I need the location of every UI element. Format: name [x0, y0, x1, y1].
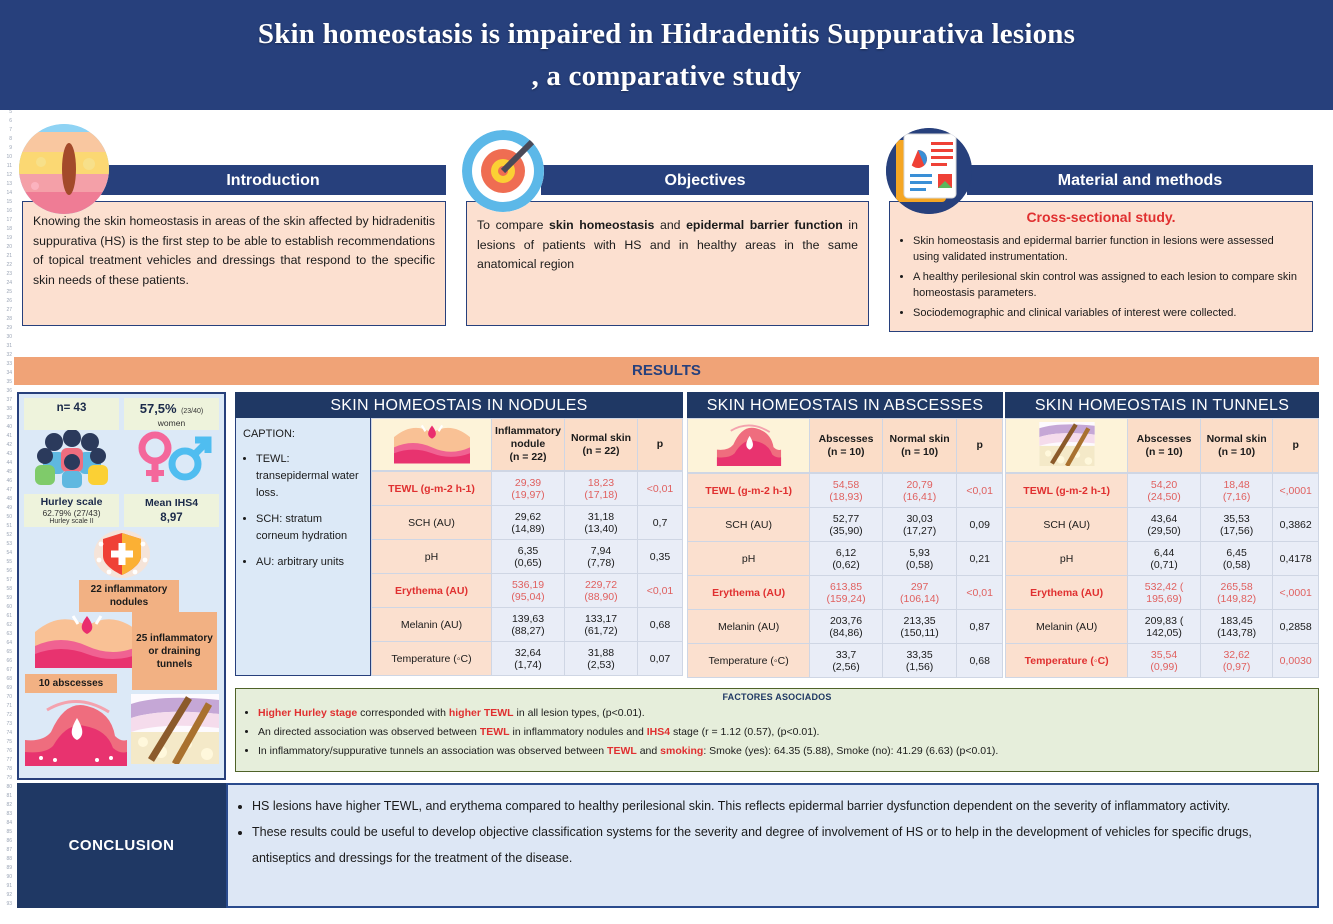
objectives-body: To compare skin homeostasis and epiderma… — [466, 201, 869, 326]
table-row: Erythema (AU)532,42 (195,69)265,58(149,8… — [1006, 576, 1319, 610]
ruler-tick: 53 — [0, 540, 14, 549]
associated-factors-list: Higher Hurley stage corresponded with hi… — [258, 704, 1310, 761]
tag-inflammatory-nodules: 22 inflammatory nodules — [79, 580, 179, 612]
caption-item: SCH: stratum corneum hydration — [256, 511, 363, 545]
table-row: Erythema (AU)613,85(159,24)297(106,14)<0… — [688, 576, 1003, 610]
col-header-lesion-l2: (n = 10) — [811, 446, 881, 459]
associated-factors-title: FACTORES ASOCIADOS — [244, 692, 1310, 702]
ruler-tick: 51 — [0, 522, 14, 531]
cell-p-value: 0,7 — [638, 506, 683, 540]
table-row-header: Abscesses (n = 10) Normal skin (n = 10) … — [1006, 419, 1319, 473]
ruler-tick: 72 — [0, 711, 14, 720]
conclusion-body: HS lesions have higher TEWL, and erythem… — [226, 783, 1319, 908]
cell-p-value: 0,07 — [638, 642, 683, 676]
af-b2-t3: stage (r = 1.12 (0.57), (p<0.01). — [670, 726, 819, 738]
table-row: Melanin (AU)203,76(84,86)213,35(150,11)0… — [688, 610, 1003, 644]
tag-tunnels: 25 inflammatory or draining tunnels — [132, 612, 217, 690]
cell-lesion-value: 29,39(19,97) — [492, 472, 565, 506]
af-b2-t2: in inflammatory nodules and — [510, 726, 647, 738]
cell-normal-value: 31,18(13,40) — [565, 506, 638, 540]
skin-cross-section-icon — [19, 124, 109, 214]
page-title-line1: Skin homeostasis is impaired in Hidraden… — [258, 13, 1075, 55]
abscess-illustration — [25, 696, 127, 771]
cell-p-value: 0,2858 — [1273, 610, 1319, 644]
table-row: pH6,35(0,65)7,94(7,78)0,35 — [372, 540, 683, 574]
introduction-body: Knowing the skin homeostasis in areas of… — [22, 201, 446, 326]
ruler-tick: 79 — [0, 774, 14, 783]
cell-p-value: <0,01 — [957, 576, 1003, 610]
row-label: SCH (AU) — [688, 508, 810, 542]
left-ruler: 5678910111213141516171819202122232425262… — [0, 108, 14, 924]
cell-lesion-value: 52,77(35,90) — [810, 508, 883, 542]
sidebar-stat-row-bottom: Hurley scale 62.79% (27/43) Hurley scale… — [19, 493, 224, 527]
row-label: Temperature (◦C) — [372, 642, 492, 676]
cell-normal-value: 133,17(61,72) — [565, 608, 638, 642]
table-abscesses-title: SKIN HOMEOSTAIS IN ABSCESSES — [687, 392, 1003, 418]
table-abscesses-body: TEWL (g-m-2 h-1)54,58(18,93)20,79(16,41)… — [687, 473, 1003, 678]
col-header-normal-l2: (n = 10) — [1202, 446, 1272, 459]
cell-normal-value: 32,62(0,97) — [1200, 644, 1273, 678]
row-label: TEWL (g-m-2 h-1) — [372, 472, 492, 506]
ruler-tick: 73 — [0, 720, 14, 729]
cell-normal-value: 33,35(1,56) — [882, 644, 957, 678]
table-nodules: SKIN HOMEOSTAIS IN NODULES CAPTION: TEWL… — [235, 392, 683, 676]
conclusion-item: These results could be useful to develop… — [252, 819, 1303, 871]
tunnel-header-icon-cell — [1006, 419, 1128, 473]
ruler-tick: 20 — [0, 243, 14, 252]
introduction-header: Introduction — [100, 165, 446, 195]
ruler-tick: 84 — [0, 819, 14, 828]
cell-p-value: <,0001 — [1273, 474, 1319, 508]
ruler-tick: 85 — [0, 828, 14, 837]
cell-p-value: <,0001 — [1273, 576, 1319, 610]
row-label: Melanin (AU) — [372, 608, 492, 642]
cell-lesion-value: 613,85(159,24) — [810, 576, 883, 610]
nodule-header-icon-cell — [372, 419, 492, 471]
ruler-tick: 59 — [0, 594, 14, 603]
objectives-header: Objectives — [541, 165, 869, 195]
cell-normal-value: 213,35(150,11) — [882, 610, 957, 644]
ruler-tick: 49 — [0, 504, 14, 513]
objectives-bold-2: epidermal barrier function — [686, 218, 843, 232]
table-row: TEWL (g-m-2 h-1)54,58(18,93)20,79(16,41)… — [688, 474, 1003, 508]
sidebar-stat-row-top: n= 43 57,5% (23/40) women — [19, 394, 224, 430]
ruler-tick: 29 — [0, 324, 14, 333]
cell-p-value: 0,0030 — [1273, 644, 1319, 678]
target-dart-icon — [462, 130, 544, 212]
col-header-normal: Normal skin (n = 22) — [565, 419, 638, 471]
cell-lesion-value: 203,76(84,86) — [810, 610, 883, 644]
medical-shield-icon — [19, 528, 224, 585]
table-row: Melanin (AU)139,63(88,27)133,17(61,72)0,… — [372, 608, 683, 642]
inflammatory-nodule-illustration — [35, 612, 139, 673]
ruler-tick: 38 — [0, 405, 14, 414]
col-header-p: p — [1273, 419, 1319, 473]
methods-bullet: Sociodemographic and clinical variables … — [913, 305, 1302, 321]
cell-p-value: <0,01 — [638, 574, 683, 608]
col-header-p: p — [957, 419, 1003, 473]
ruler-tick: 13 — [0, 180, 14, 189]
caption-item: TEWL: transepidermal water loss. — [256, 451, 363, 502]
bottom-strip — [0, 908, 1333, 924]
ruler-tick: 44 — [0, 459, 14, 468]
col-header-lesion-l3: (n = 22) — [493, 451, 563, 464]
ruler-tick: 92 — [0, 891, 14, 900]
cell-p-value: 0,68 — [957, 644, 1003, 678]
cell-p-value: <0,01 — [638, 472, 683, 506]
methods-header: Material and methods — [967, 165, 1313, 195]
ruler-tick: 18 — [0, 225, 14, 234]
ruler-tick: 78 — [0, 765, 14, 774]
cell-normal-value: 183,45(143,78) — [1200, 610, 1273, 644]
associated-factors-item: An directed association was observed bet… — [258, 723, 1310, 742]
col-header-normal-l1: Normal skin — [884, 433, 956, 446]
cell-normal-value: 35,53(17,56) — [1200, 508, 1273, 542]
row-label: Melanin (AU) — [688, 610, 810, 644]
cell-normal-value: 229,72(88,90) — [565, 574, 638, 608]
stat-women-label: women — [125, 418, 218, 428]
row-label: Erythema (AU) — [688, 576, 810, 610]
af-b2-red1: TEWL — [480, 726, 510, 738]
ruler-tick: 37 — [0, 396, 14, 405]
table-abscesses-grid: Abscesses (n = 10) Normal skin (n = 10) … — [687, 418, 1003, 473]
table-nodules-title: SKIN HOMEOSTAIS IN NODULES — [235, 392, 683, 418]
table-row: Temperature (◦C)33,7(2,56)33,35(1,56)0,6… — [688, 644, 1003, 678]
cell-lesion-value: 43,64(29,50) — [1128, 508, 1201, 542]
col-header-normal-l1: Normal skin — [1202, 433, 1272, 446]
ruler-tick: 76 — [0, 747, 14, 756]
ruler-tick: 12 — [0, 171, 14, 180]
methods-subtitle: Cross-sectional study. — [900, 208, 1302, 228]
stat-hurley-title: Hurley scale — [25, 496, 118, 508]
ruler-tick: 58 — [0, 585, 14, 594]
cell-p-value: 0,3862 — [1273, 508, 1319, 542]
ruler-tick: 46 — [0, 477, 14, 486]
ruler-tick: 24 — [0, 279, 14, 288]
ruler-tick: 88 — [0, 855, 14, 864]
cell-lesion-value: 33,7(2,56) — [810, 644, 883, 678]
ruler-tick: 47 — [0, 486, 14, 495]
cell-p-value: <0,01 — [957, 474, 1003, 508]
row-label: pH — [688, 542, 810, 576]
col-header-normal: Normal skin (n = 10) — [1200, 419, 1273, 473]
ruler-tick: 63 — [0, 630, 14, 639]
ruler-tick: 89 — [0, 864, 14, 873]
ruler-tick: 56 — [0, 567, 14, 576]
sidebar-icon-row — [19, 430, 224, 493]
ruler-tick: 68 — [0, 675, 14, 684]
cell-normal-value: 5,93(0,58) — [882, 542, 957, 576]
ruler-tick: 67 — [0, 666, 14, 675]
ruler-tick: 6 — [0, 117, 14, 126]
ruler-tick: 70 — [0, 693, 14, 702]
tunnel-illustration — [131, 694, 219, 769]
table-nodules-grid: Inflammatory nodule (n = 22) Normal skin… — [371, 418, 683, 471]
table-abscesses: SKIN HOMEOSTAIS IN ABSCESSES Abscesses (… — [687, 392, 1003, 678]
table-row: Erythema (AU)536,19(95,04)229,72(88,90)<… — [372, 574, 683, 608]
ruler-tick: 52 — [0, 531, 14, 540]
col-header-lesion: Abscesses (n = 10) — [810, 419, 883, 473]
caption-panel: CAPTION: TEWL: transepidermal water loss… — [235, 418, 371, 676]
ruler-tick: 87 — [0, 846, 14, 855]
cell-p-value: 0,4178 — [1273, 542, 1319, 576]
col-header-lesion-l1: Abscesses — [811, 433, 881, 446]
ruler-tick: 21 — [0, 252, 14, 261]
ruler-tick: 82 — [0, 801, 14, 810]
ruler-tick: 41 — [0, 432, 14, 441]
af-b3-t1: In inflammatory/suppurative tunnels an a… — [258, 745, 607, 757]
cell-normal-value: 18,23(17,18) — [565, 472, 638, 506]
cell-normal-value: 18,48(7,16) — [1200, 474, 1273, 508]
ruler-tick: 69 — [0, 684, 14, 693]
row-label: SCH (AU) — [372, 506, 492, 540]
tag-abscesses: 10 abscesses — [25, 674, 117, 693]
af-b3-t3: : Smoke (yes): 64.35 (5.88), Smoke (no):… — [703, 745, 998, 757]
ruler-tick: 62 — [0, 621, 14, 630]
ruler-tick: 36 — [0, 387, 14, 396]
ruler-tick: 19 — [0, 234, 14, 243]
row-label: Erythema (AU) — [372, 574, 492, 608]
col-header-normal: Normal skin (n = 10) — [882, 419, 957, 473]
ruler-tick: 90 — [0, 873, 14, 882]
af-b3-t2: and — [637, 745, 660, 757]
stat-box-women: 57,5% (23/40) women — [124, 398, 219, 430]
ruler-tick: 64 — [0, 639, 14, 648]
ruler-tick: 83 — [0, 810, 14, 819]
objectives-bold-1: skin homeostasis — [549, 218, 654, 232]
cell-p-value: 0,87 — [957, 610, 1003, 644]
row-label: SCH (AU) — [1006, 508, 1128, 542]
poster-title-banner: Skin homeostasis is impaired in Hidraden… — [0, 0, 1333, 110]
cell-lesion-value: 29,62(14,89) — [492, 506, 565, 540]
cell-lesion-value: 54,58(18,93) — [810, 474, 883, 508]
ruler-tick: 11 — [0, 162, 14, 171]
af-b3-red1: TEWL — [607, 745, 637, 757]
table-row: pH6,44(0,71)6,45(0,58)0,4178 — [1006, 542, 1319, 576]
table-row: pH6,12(0,62)5,93(0,58)0,21 — [688, 542, 1003, 576]
ruler-tick: 25 — [0, 288, 14, 297]
ruler-tick: 34 — [0, 369, 14, 378]
stat-sample-size-value: n= 43 — [25, 402, 118, 414]
col-header-p: p — [638, 419, 683, 471]
caption-title: CAPTION: — [243, 426, 363, 443]
table-nodules-body: TEWL (g-m-2 h-1)29,39(19,97)18,23(17,18)… — [371, 471, 683, 676]
ruler-tick: 22 — [0, 261, 14, 270]
stat-ihs4-value: 8,97 — [125, 512, 218, 524]
ruler-tick: 30 — [0, 333, 14, 342]
ruler-tick: 40 — [0, 423, 14, 432]
ruler-tick: 32 — [0, 351, 14, 360]
cell-lesion-value: 209,83 (142,05) — [1128, 610, 1201, 644]
ruler-tick: 50 — [0, 513, 14, 522]
ruler-tick: 80 — [0, 783, 14, 792]
objectives-text-mid: and — [654, 218, 686, 232]
table-row: TEWL (g-m-2 h-1)29,39(19,97)18,23(17,18)… — [372, 472, 683, 506]
results-banner: RESULTS — [14, 357, 1319, 385]
table-row-header: Inflammatory nodule (n = 22) Normal skin… — [372, 419, 683, 471]
ruler-tick: 65 — [0, 648, 14, 657]
associated-factors-box: FACTORES ASOCIADOS Higher Hurley stage c… — [235, 688, 1319, 772]
table-row: SCH (AU)43,64(29,50)35,53(17,56)0,3862 — [1006, 508, 1319, 542]
male-female-symbols-icon — [122, 430, 220, 493]
table-row: SCH (AU)29,62(14,89)31,18(13,40)0,7 — [372, 506, 683, 540]
stat-hurley-sub: Hurley scale II — [25, 518, 118, 525]
table-tunnels-body: TEWL (g-m-2 h-1)54,20(24,50)18,48(7,16)<… — [1005, 473, 1319, 678]
methods-bullet: A healthy perilesional skin control was … — [913, 269, 1302, 301]
ruler-tick: 57 — [0, 576, 14, 585]
col-header-normal-l2: (n = 10) — [884, 446, 956, 459]
ruler-tick: 9 — [0, 144, 14, 153]
table-row: Temperature (◦C)32,64(1,74)31,88(2,53)0,… — [372, 642, 683, 676]
cell-normal-value: 297(106,14) — [882, 576, 957, 610]
conclusion-list: HS lesions have higher TEWL, and erythem… — [252, 793, 1303, 871]
ruler-tick: 60 — [0, 603, 14, 612]
table-tunnels-grid: Abscesses (n = 10) Normal skin (n = 10) … — [1005, 418, 1319, 473]
cell-p-value: 0,21 — [957, 542, 1003, 576]
col-header-lesion-l2: (n = 10) — [1129, 446, 1199, 459]
af-b3-red2: smoking — [660, 745, 703, 757]
ruler-tick: 54 — [0, 549, 14, 558]
ruler-tick: 75 — [0, 738, 14, 747]
ruler-tick: 81 — [0, 792, 14, 801]
ruler-tick: 8 — [0, 135, 14, 144]
col-header-normal-l1: Normal skin — [566, 432, 636, 445]
stat-women-pct: 57,5% — [140, 401, 177, 416]
ruler-tick: 91 — [0, 882, 14, 891]
ruler-tick: 77 — [0, 756, 14, 765]
ruler-tick: 71 — [0, 702, 14, 711]
col-header-lesion-l2: nodule — [493, 438, 563, 451]
ruler-tick: 35 — [0, 378, 14, 387]
af-b1-t2: in all lesion types, (p<0.01). — [514, 707, 645, 719]
cell-p-value: 0,35 — [638, 540, 683, 574]
cell-normal-value: 31,88(2,53) — [565, 642, 638, 676]
stat-box-hurley: Hurley scale 62.79% (27/43) Hurley scale… — [24, 494, 119, 527]
methods-body: Cross-sectional study. Skin homeostasis … — [889, 201, 1313, 332]
conclusion-label: CONCLUSION — [17, 783, 226, 908]
stat-hurley-value: 62.79% (27/43) — [25, 508, 118, 518]
ruler-tick: 43 — [0, 450, 14, 459]
row-label: TEWL (g-m-2 h-1) — [688, 474, 810, 508]
caption-list: TEWL: transepidermal water loss. SCH: st… — [256, 451, 363, 571]
row-label: TEWL (g-m-2 h-1) — [1006, 474, 1128, 508]
objectives-text-pre: To compare — [477, 218, 549, 232]
af-b2-t1: An directed association was observed bet… — [258, 726, 480, 738]
ruler-tick: 15 — [0, 198, 14, 207]
cell-normal-value: 6,45(0,58) — [1200, 542, 1273, 576]
table-row: Temperature (◦C)35,54(0,99)32,62(0,97)0,… — [1006, 644, 1319, 678]
row-label: pH — [1006, 542, 1128, 576]
row-label: Erythema (AU) — [1006, 576, 1128, 610]
ruler-tick: 23 — [0, 270, 14, 279]
methods-bullet-list: Skin homeostasis and epidermal barrier f… — [913, 233, 1302, 321]
ruler-tick: 27 — [0, 306, 14, 315]
table-row: TEWL (g-m-2 h-1)54,20(24,50)18,48(7,16)<… — [1006, 474, 1319, 508]
stat-box-sample-size: n= 43 — [24, 398, 119, 430]
cell-lesion-value: 54,20(24,50) — [1128, 474, 1201, 508]
col-header-lesion: Abscesses (n = 10) — [1128, 419, 1201, 473]
ruler-tick: 14 — [0, 189, 14, 198]
report-document-icon — [886, 128, 972, 214]
methods-bullet: Skin homeostasis and epidermal barrier f… — [913, 233, 1302, 265]
ruler-tick: 31 — [0, 342, 14, 351]
ruler-tick: 42 — [0, 441, 14, 450]
af-b1-t1: corresponded with — [357, 707, 449, 719]
cell-lesion-value: 6,12(0,62) — [810, 542, 883, 576]
col-header-lesion: Inflammatory nodule (n = 22) — [492, 419, 565, 471]
ruler-tick: 10 — [0, 153, 14, 162]
ruler-tick: 26 — [0, 297, 14, 306]
ruler-tick: 48 — [0, 495, 14, 504]
col-header-lesion-l1: Abscesses — [1129, 433, 1199, 446]
ruler-tick: 28 — [0, 315, 14, 324]
af-b1-red1: Higher Hurley stage — [258, 707, 357, 719]
ruler-tick: 39 — [0, 414, 14, 423]
cell-normal-value: 7,94(7,78) — [565, 540, 638, 574]
abscess-header-icon-cell — [688, 419, 810, 473]
cell-lesion-value: 35,54(0,99) — [1128, 644, 1201, 678]
group-of-people-icon — [24, 430, 122, 493]
table-row-header: Abscesses (n = 10) Normal skin (n = 10) … — [688, 419, 1003, 473]
associated-factors-item: In inflammatory/suppurative tunnels an a… — [258, 742, 1310, 761]
row-label: pH — [372, 540, 492, 574]
ruler-tick: 7 — [0, 126, 14, 135]
table-row: SCH (AU)52,77(35,90)30,03(17,27)0,09 — [688, 508, 1003, 542]
cell-lesion-value: 536,19(95,04) — [492, 574, 565, 608]
cell-p-value: 0,68 — [638, 608, 683, 642]
row-label: Temperature (◦C) — [1006, 644, 1128, 678]
cell-lesion-value: 6,35(0,65) — [492, 540, 565, 574]
ruler-tick: 33 — [0, 360, 14, 369]
cell-normal-value: 30,03(17,27) — [882, 508, 957, 542]
cell-normal-value: 265,58(149,82) — [1200, 576, 1273, 610]
stat-box-ihs4: Mean IHS4 8,97 — [124, 494, 219, 527]
table-tunnels-title: SKIN HOMEOSTAIS IN TUNNELS — [1005, 392, 1319, 418]
row-label: Temperature (◦C) — [688, 644, 810, 678]
af-b2-red2: IHS4 — [647, 726, 670, 738]
col-header-normal-l2: (n = 22) — [566, 445, 636, 458]
conclusion-item: HS lesions have higher TEWL, and erythem… — [252, 793, 1303, 819]
stat-women-line: 57,5% (23/40) — [125, 400, 218, 418]
stat-ihs4-title: Mean IHS4 — [125, 497, 218, 509]
ruler-tick: 16 — [0, 207, 14, 216]
cell-lesion-value: 532,42 (195,69) — [1128, 576, 1201, 610]
ruler-tick: 66 — [0, 657, 14, 666]
ruler-tick: 74 — [0, 729, 14, 738]
table-row: Melanin (AU)209,83 (142,05)183,45(143,78… — [1006, 610, 1319, 644]
cell-lesion-value: 139,63(88,27) — [492, 608, 565, 642]
page-title-line2: , a comparative study — [531, 55, 801, 97]
ruler-tick: 55 — [0, 558, 14, 567]
ruler-tick: 45 — [0, 468, 14, 477]
table-tunnels: SKIN HOMEOSTAIS IN TUNNELS Abscesses (n … — [1005, 392, 1319, 678]
row-label: Melanin (AU) — [1006, 610, 1128, 644]
caption-item: AU: arbitrary units — [256, 554, 363, 571]
ruler-tick: 86 — [0, 837, 14, 846]
associated-factors-item: Higher Hurley stage corresponded with hi… — [258, 704, 1310, 723]
col-header-lesion-l1: Inflammatory — [493, 425, 563, 438]
cell-lesion-value: 32,64(1,74) — [492, 642, 565, 676]
cell-lesion-value: 6,44(0,71) — [1128, 542, 1201, 576]
cell-normal-value: 20,79(16,41) — [882, 474, 957, 508]
af-b1-red2: higher TEWL — [449, 707, 514, 719]
cell-p-value: 0,09 — [957, 508, 1003, 542]
results-sidebar-panel: n= 43 57,5% (23/40) women — [17, 392, 226, 780]
ruler-tick: 17 — [0, 216, 14, 225]
ruler-tick: 61 — [0, 612, 14, 621]
stat-women-fraction: (23/40) — [181, 408, 203, 415]
